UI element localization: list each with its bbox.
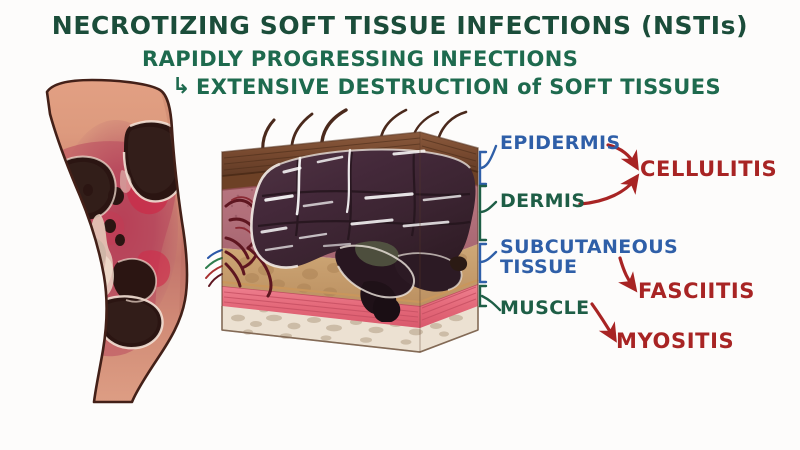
bracket-muscle [480, 286, 500, 310]
arrow-muscle-myositis [592, 304, 614, 338]
illustration-canvas: NECROTIZING SOFT TISSUE INFECTIONS (NSTI… [0, 0, 800, 450]
arrow-dermis-cellulitis [580, 178, 636, 204]
diagnosis-label-fasciitis: FASCIITIS [638, 280, 755, 302]
diagnosis-label-cellulitis: CELLULITIS [640, 158, 777, 180]
bracket-subcutaneous [480, 244, 496, 282]
bracket-dermis [480, 186, 496, 240]
layer-label-epidermis: EPIDERMIS [500, 134, 621, 154]
page-title: NECROTIZING SOFT TISSUE INFECTIONS (NSTI… [52, 13, 748, 38]
layer-label-muscle: MUSCLE [500, 299, 589, 319]
layer-label-dermis: DERMIS [500, 192, 585, 212]
subtitle-line-2: EXTENSIVE DESTRUCTION of SOFT TISSUES [196, 77, 721, 98]
layer-label-subcutaneous-tissue: SUBCUTANEOUS TISSUE [500, 238, 678, 278]
bracket-epidermis [480, 146, 496, 184]
subtitle-arrow-icon: ↳ [172, 76, 191, 98]
diagnosis-label-myositis: MYOSITIS [616, 330, 734, 352]
subtitle-line-1: RAPIDLY PROGRESSING INFECTIONS [142, 49, 578, 70]
